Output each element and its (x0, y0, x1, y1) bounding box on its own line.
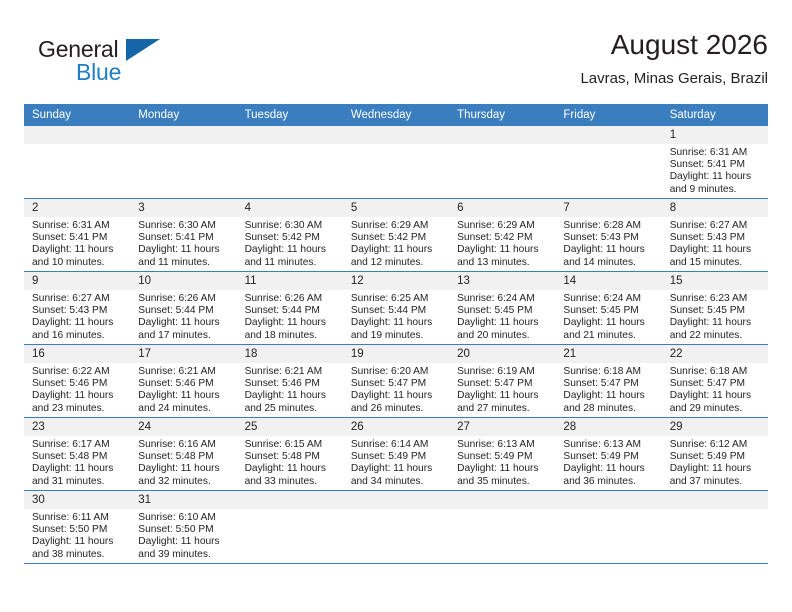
sunrise-text: Sunrise: 6:15 AM (245, 439, 337, 451)
day-number[interactable]: 19 (343, 345, 449, 363)
sunrise-text: Sunrise: 6:30 AM (245, 220, 337, 232)
calendar-cell-empty (449, 491, 555, 564)
daylight-text-line2: and 19 minutes. (351, 330, 443, 342)
daylight-text-line1: Daylight: 11 hours (563, 244, 655, 256)
sunrise-text: Sunrise: 6:19 AM (457, 366, 549, 378)
daylight-text-line1: Daylight: 11 hours (563, 317, 655, 329)
calendar-cell-inner (130, 126, 236, 198)
calendar-cell-inner: 7Sunrise: 6:28 AMSunset: 5:43 PMDaylight… (555, 199, 661, 271)
daylight-text-line1: Daylight: 11 hours (670, 171, 762, 183)
day-number[interactable]: 2 (24, 199, 130, 217)
calendar-week-row: 23Sunrise: 6:17 AMSunset: 5:48 PMDayligh… (24, 418, 768, 491)
sunset-text: Sunset: 5:47 PM (670, 378, 762, 390)
daylight-text-line2: and 28 minutes. (563, 403, 655, 415)
calendar-cell-inner (662, 491, 768, 563)
logo-triangle-icon (126, 39, 160, 61)
day-details: Sunrise: 6:20 AMSunset: 5:47 PMDaylight:… (343, 363, 449, 415)
daylight-text-line1: Daylight: 11 hours (245, 317, 337, 329)
daylight-text-line1: Daylight: 11 hours (457, 463, 549, 475)
daylight-text-line1: Daylight: 11 hours (457, 317, 549, 329)
sunrise-text: Sunrise: 6:26 AM (245, 293, 337, 305)
sunrise-text: Sunrise: 6:21 AM (138, 366, 230, 378)
daylight-text-line1: Daylight: 11 hours (351, 463, 443, 475)
daylight-text-line2: and 33 minutes. (245, 476, 337, 488)
calendar-cell-day: 14Sunrise: 6:24 AMSunset: 5:45 PMDayligh… (555, 272, 661, 345)
calendar-week-row: 2Sunrise: 6:31 AMSunset: 5:41 PMDaylight… (24, 199, 768, 272)
sunset-text: Sunset: 5:41 PM (138, 232, 230, 244)
daylight-text-line1: Daylight: 11 hours (245, 244, 337, 256)
daylight-text-line2: and 29 minutes. (670, 403, 762, 415)
daylight-text-line1: Daylight: 11 hours (670, 244, 762, 256)
weekday-header-monday: Monday (130, 104, 236, 126)
calendar-week-row: 9Sunrise: 6:27 AMSunset: 5:43 PMDaylight… (24, 272, 768, 345)
daylight-text-line2: and 39 minutes. (138, 549, 230, 561)
calendar-cell-day: 25Sunrise: 6:15 AMSunset: 5:48 PMDayligh… (237, 418, 343, 491)
daylight-text-line1: Daylight: 11 hours (670, 463, 762, 475)
sunset-text: Sunset: 5:48 PM (138, 451, 230, 463)
day-details: Sunrise: 6:24 AMSunset: 5:45 PMDaylight:… (449, 290, 555, 342)
calendar-cell-inner: 12Sunrise: 6:25 AMSunset: 5:44 PMDayligh… (343, 272, 449, 344)
calendar-cell-empty (343, 491, 449, 564)
calendar-week-row: 16Sunrise: 6:22 AMSunset: 5:46 PMDayligh… (24, 345, 768, 418)
weekday-header-sunday: Sunday (24, 104, 130, 126)
sunset-text: Sunset: 5:49 PM (457, 451, 549, 463)
calendar-bottom-rule (24, 563, 768, 564)
sunset-text: Sunset: 5:47 PM (457, 378, 549, 390)
daylight-text-line2: and 32 minutes. (138, 476, 230, 488)
sunrise-text: Sunrise: 6:23 AM (670, 293, 762, 305)
day-number (662, 491, 768, 509)
daylight-text-line2: and 37 minutes. (670, 476, 762, 488)
weekday-header-saturday: Saturday (662, 104, 768, 126)
calendar-cell-inner: 24Sunrise: 6:16 AMSunset: 5:48 PMDayligh… (130, 418, 236, 490)
sunrise-text: Sunrise: 6:31 AM (670, 147, 762, 159)
daylight-text-line2: and 34 minutes. (351, 476, 443, 488)
sunrise-text: Sunrise: 6:27 AM (670, 220, 762, 232)
calendar-cell-day: 24Sunrise: 6:16 AMSunset: 5:48 PMDayligh… (130, 418, 236, 491)
day-details: Sunrise: 6:27 AMSunset: 5:43 PMDaylight:… (662, 217, 768, 269)
weekday-header-row: Sunday Monday Tuesday Wednesday Thursday… (24, 104, 768, 126)
calendar-cell-inner (449, 491, 555, 563)
day-details: Sunrise: 6:28 AMSunset: 5:43 PMDaylight:… (555, 217, 661, 269)
calendar-cell-inner: 26Sunrise: 6:14 AMSunset: 5:49 PMDayligh… (343, 418, 449, 490)
title-block: August 2026 Lavras, Minas Gerais, Brazil (308, 28, 768, 90)
calendar-cell-day: 11Sunrise: 6:26 AMSunset: 5:44 PMDayligh… (237, 272, 343, 345)
calendar-cell-empty (130, 126, 236, 199)
calendar-cell-day: 2Sunrise: 6:31 AMSunset: 5:41 PMDaylight… (24, 199, 130, 272)
sunrise-text: Sunrise: 6:16 AM (138, 439, 230, 451)
day-details: Sunrise: 6:31 AMSunset: 5:41 PMDaylight:… (24, 217, 130, 269)
sunrise-text: Sunrise: 6:11 AM (32, 512, 124, 524)
calendar-cell-inner: 10Sunrise: 6:26 AMSunset: 5:44 PMDayligh… (130, 272, 236, 344)
calendar-cell-inner: 8Sunrise: 6:27 AMSunset: 5:43 PMDaylight… (662, 199, 768, 271)
calendar-cell-inner (555, 126, 661, 198)
sunset-text: Sunset: 5:43 PM (563, 232, 655, 244)
sunset-text: Sunset: 5:43 PM (670, 232, 762, 244)
calendar-cell-day: 31Sunrise: 6:10 AMSunset: 5:50 PMDayligh… (130, 491, 236, 564)
calendar-cell-empty (237, 126, 343, 199)
sunrise-text: Sunrise: 6:28 AM (563, 220, 655, 232)
day-number[interactable]: 26 (343, 418, 449, 436)
sunset-text: Sunset: 5:47 PM (563, 378, 655, 390)
day-number[interactable]: 23 (24, 418, 130, 436)
sunset-text: Sunset: 5:49 PM (670, 451, 762, 463)
calendar-cell-empty (555, 491, 661, 564)
sunrise-text: Sunrise: 6:13 AM (457, 439, 549, 451)
sunrise-text: Sunrise: 6:20 AM (351, 366, 443, 378)
daylight-text-line1: Daylight: 11 hours (670, 390, 762, 402)
sunset-text: Sunset: 5:49 PM (563, 451, 655, 463)
calendar-cell-inner: 20Sunrise: 6:19 AMSunset: 5:47 PMDayligh… (449, 345, 555, 417)
calendar-cell-inner: 21Sunrise: 6:18 AMSunset: 5:47 PMDayligh… (555, 345, 661, 417)
calendar-cell-empty (237, 491, 343, 564)
calendar-week-row: 1Sunrise: 6:31 AMSunset: 5:41 PMDaylight… (24, 126, 768, 199)
day-details: Sunrise: 6:26 AMSunset: 5:44 PMDaylight:… (130, 290, 236, 342)
day-details: Sunrise: 6:27 AMSunset: 5:43 PMDaylight:… (24, 290, 130, 342)
daylight-text-line2: and 17 minutes. (138, 330, 230, 342)
page-title: August 2026 (308, 28, 768, 62)
daylight-text-line2: and 21 minutes. (563, 330, 655, 342)
calendar-cell-inner: 11Sunrise: 6:26 AMSunset: 5:44 PMDayligh… (237, 272, 343, 344)
day-number[interactable]: 13 (449, 272, 555, 290)
calendar-cell-inner: 9Sunrise: 6:27 AMSunset: 5:43 PMDaylight… (24, 272, 130, 344)
sunset-text: Sunset: 5:46 PM (245, 378, 337, 390)
calendar-cell-day: 30Sunrise: 6:11 AMSunset: 5:50 PMDayligh… (24, 491, 130, 564)
calendar-cell-day: 1Sunrise: 6:31 AMSunset: 5:41 PMDaylight… (662, 126, 768, 199)
calendar-cell-empty (343, 126, 449, 199)
daylight-text-line1: Daylight: 11 hours (351, 244, 443, 256)
day-details: Sunrise: 6:13 AMSunset: 5:49 PMDaylight:… (449, 436, 555, 488)
calendar-cell-day: 9Sunrise: 6:27 AMSunset: 5:43 PMDaylight… (24, 272, 130, 345)
calendar-cell-inner: 1Sunrise: 6:31 AMSunset: 5:41 PMDaylight… (662, 126, 768, 198)
day-details: Sunrise: 6:14 AMSunset: 5:49 PMDaylight:… (343, 436, 449, 488)
day-number[interactable]: 20 (449, 345, 555, 363)
day-number[interactable]: 6 (449, 199, 555, 217)
calendar-cell-day: 28Sunrise: 6:13 AMSunset: 5:49 PMDayligh… (555, 418, 661, 491)
daylight-text-line2: and 11 minutes. (245, 257, 337, 269)
sunset-text: Sunset: 5:44 PM (138, 305, 230, 317)
daylight-text-line1: Daylight: 11 hours (670, 317, 762, 329)
day-number[interactable]: 21 (555, 345, 661, 363)
location-subtitle: Lavras, Minas Gerais, Brazil (308, 68, 768, 90)
day-number[interactable]: 1 (662, 126, 768, 144)
calendar-cell-day: 23Sunrise: 6:17 AMSunset: 5:48 PMDayligh… (24, 418, 130, 491)
day-details: Sunrise: 6:30 AMSunset: 5:42 PMDaylight:… (237, 217, 343, 269)
daylight-text-line2: and 14 minutes. (563, 257, 655, 269)
sunrise-text: Sunrise: 6:29 AM (457, 220, 549, 232)
calendar-cell-inner: 5Sunrise: 6:29 AMSunset: 5:42 PMDaylight… (343, 199, 449, 271)
day-details: Sunrise: 6:25 AMSunset: 5:44 PMDaylight:… (343, 290, 449, 342)
sunset-text: Sunset: 5:50 PM (138, 524, 230, 536)
calendar-cell-inner: 13Sunrise: 6:24 AMSunset: 5:45 PMDayligh… (449, 272, 555, 344)
calendar-cell-inner: 15Sunrise: 6:23 AMSunset: 5:45 PMDayligh… (662, 272, 768, 344)
daylight-text-line1: Daylight: 11 hours (32, 244, 124, 256)
calendar-cell-inner: 19Sunrise: 6:20 AMSunset: 5:47 PMDayligh… (343, 345, 449, 417)
sunset-text: Sunset: 5:45 PM (670, 305, 762, 317)
day-number[interactable]: 17 (130, 345, 236, 363)
calendar-cell-day: 17Sunrise: 6:21 AMSunset: 5:46 PMDayligh… (130, 345, 236, 418)
day-number[interactable]: 14 (555, 272, 661, 290)
calendar-cell-inner: 17Sunrise: 6:21 AMSunset: 5:46 PMDayligh… (130, 345, 236, 417)
day-details: Sunrise: 6:17 AMSunset: 5:48 PMDaylight:… (24, 436, 130, 488)
daylight-text-line1: Daylight: 11 hours (457, 390, 549, 402)
day-number[interactable]: 29 (662, 418, 768, 436)
day-number[interactable]: 4 (237, 199, 343, 217)
day-details: Sunrise: 6:19 AMSunset: 5:47 PMDaylight:… (449, 363, 555, 415)
calendar-cell-inner (343, 126, 449, 198)
sunset-text: Sunset: 5:48 PM (245, 451, 337, 463)
calendar-cell-inner: 6Sunrise: 6:29 AMSunset: 5:42 PMDaylight… (449, 199, 555, 271)
daylight-text-line2: and 18 minutes. (245, 330, 337, 342)
calendar-cell-day: 6Sunrise: 6:29 AMSunset: 5:42 PMDaylight… (449, 199, 555, 272)
calendar-cell-inner: 28Sunrise: 6:13 AMSunset: 5:49 PMDayligh… (555, 418, 661, 490)
day-number (24, 126, 130, 144)
calendar-cell-inner (343, 491, 449, 563)
sunset-text: Sunset: 5:43 PM (32, 305, 124, 317)
sunrise-text: Sunrise: 6:31 AM (32, 220, 124, 232)
day-number[interactable]: 28 (555, 418, 661, 436)
sunset-text: Sunset: 5:41 PM (32, 232, 124, 244)
daylight-text-line1: Daylight: 11 hours (138, 244, 230, 256)
calendar-cell-day: 16Sunrise: 6:22 AMSunset: 5:46 PMDayligh… (24, 345, 130, 418)
sunset-text: Sunset: 5:42 PM (457, 232, 549, 244)
daylight-text-line1: Daylight: 11 hours (138, 390, 230, 402)
day-details: Sunrise: 6:22 AMSunset: 5:46 PMDaylight:… (24, 363, 130, 415)
sunset-text: Sunset: 5:41 PM (670, 159, 762, 171)
day-details: Sunrise: 6:21 AMSunset: 5:46 PMDaylight:… (237, 363, 343, 415)
sunset-text: Sunset: 5:45 PM (563, 305, 655, 317)
daylight-text-line2: and 25 minutes. (245, 403, 337, 415)
day-details: Sunrise: 6:10 AMSunset: 5:50 PMDaylight:… (130, 509, 236, 561)
calendar-cell-inner: 29Sunrise: 6:12 AMSunset: 5:49 PMDayligh… (662, 418, 768, 490)
sunrise-text: Sunrise: 6:26 AM (138, 293, 230, 305)
sunrise-text: Sunrise: 6:17 AM (32, 439, 124, 451)
daylight-text-line1: Daylight: 11 hours (32, 536, 124, 548)
sunrise-text: Sunrise: 6:21 AM (245, 366, 337, 378)
calendar-cell-inner: 3Sunrise: 6:30 AMSunset: 5:41 PMDaylight… (130, 199, 236, 271)
calendar-cell-inner: 4Sunrise: 6:30 AMSunset: 5:42 PMDaylight… (237, 199, 343, 271)
sunrise-text: Sunrise: 6:18 AM (563, 366, 655, 378)
calendar-cell-empty (449, 126, 555, 199)
weekday-header-thursday: Thursday (449, 104, 555, 126)
weekday-header-tuesday: Tuesday (237, 104, 343, 126)
sunrise-sunset-calendar: Sunday Monday Tuesday Wednesday Thursday… (24, 104, 768, 563)
sunrise-text: Sunrise: 6:24 AM (457, 293, 549, 305)
calendar-cell-day: 18Sunrise: 6:21 AMSunset: 5:46 PMDayligh… (237, 345, 343, 418)
day-details: Sunrise: 6:11 AMSunset: 5:50 PMDaylight:… (24, 509, 130, 561)
calendar-cell-day: 19Sunrise: 6:20 AMSunset: 5:47 PMDayligh… (343, 345, 449, 418)
daylight-text-line2: and 20 minutes. (457, 330, 549, 342)
day-number (449, 491, 555, 509)
daylight-text-line1: Daylight: 11 hours (351, 317, 443, 329)
day-number[interactable]: 5 (343, 199, 449, 217)
calendar-cell-day: 26Sunrise: 6:14 AMSunset: 5:49 PMDayligh… (343, 418, 449, 491)
calendar-week-row: 30Sunrise: 6:11 AMSunset: 5:50 PMDayligh… (24, 491, 768, 564)
calendar-cell-inner (449, 126, 555, 198)
calendar-cell-day: 21Sunrise: 6:18 AMSunset: 5:47 PMDayligh… (555, 345, 661, 418)
sunrise-text: Sunrise: 6:27 AM (32, 293, 124, 305)
sunrise-text: Sunrise: 6:22 AM (32, 366, 124, 378)
day-details: Sunrise: 6:18 AMSunset: 5:47 PMDaylight:… (555, 363, 661, 415)
daylight-text-line2: and 27 minutes. (457, 403, 549, 415)
calendar-cell-inner: 18Sunrise: 6:21 AMSunset: 5:46 PMDayligh… (237, 345, 343, 417)
daylight-text-line2: and 16 minutes. (32, 330, 124, 342)
daylight-text-line1: Daylight: 11 hours (138, 463, 230, 475)
calendar-cell-inner: 31Sunrise: 6:10 AMSunset: 5:50 PMDayligh… (130, 491, 236, 563)
daylight-text-line2: and 26 minutes. (351, 403, 443, 415)
daylight-text-line1: Daylight: 11 hours (351, 390, 443, 402)
day-details: Sunrise: 6:12 AMSunset: 5:49 PMDaylight:… (662, 436, 768, 488)
calendar-cell-inner: 22Sunrise: 6:18 AMSunset: 5:47 PMDayligh… (662, 345, 768, 417)
day-number[interactable]: 27 (449, 418, 555, 436)
day-number[interactable]: 12 (343, 272, 449, 290)
calendar-body: 1Sunrise: 6:31 AMSunset: 5:41 PMDaylight… (24, 126, 768, 563)
day-number (130, 126, 236, 144)
calendar-cell-empty (24, 126, 130, 199)
day-number[interactable]: 15 (662, 272, 768, 290)
day-details: Sunrise: 6:29 AMSunset: 5:42 PMDaylight:… (343, 217, 449, 269)
calendar-cell-day: 15Sunrise: 6:23 AMSunset: 5:45 PMDayligh… (662, 272, 768, 345)
day-details: Sunrise: 6:23 AMSunset: 5:45 PMDaylight:… (662, 290, 768, 342)
weekday-header-friday: Friday (555, 104, 661, 126)
day-number (343, 491, 449, 509)
day-details: Sunrise: 6:16 AMSunset: 5:48 PMDaylight:… (130, 436, 236, 488)
day-details: Sunrise: 6:30 AMSunset: 5:41 PMDaylight:… (130, 217, 236, 269)
sunset-text: Sunset: 5:45 PM (457, 305, 549, 317)
calendar-cell-inner: 14Sunrise: 6:24 AMSunset: 5:45 PMDayligh… (555, 272, 661, 344)
calendar-cell-day: 7Sunrise: 6:28 AMSunset: 5:43 PMDaylight… (555, 199, 661, 272)
day-details: Sunrise: 6:29 AMSunset: 5:42 PMDaylight:… (449, 217, 555, 269)
day-number[interactable]: 8 (662, 199, 768, 217)
day-details: Sunrise: 6:13 AMSunset: 5:49 PMDaylight:… (555, 436, 661, 488)
daylight-text-line1: Daylight: 11 hours (563, 463, 655, 475)
daylight-text-line2: and 12 minutes. (351, 257, 443, 269)
daylight-text-line2: and 11 minutes. (138, 257, 230, 269)
day-number (555, 126, 661, 144)
sunrise-text: Sunrise: 6:18 AM (670, 366, 762, 378)
calendar-cell-inner (237, 126, 343, 198)
calendar-cell-inner: 2Sunrise: 6:31 AMSunset: 5:41 PMDaylight… (24, 199, 130, 271)
daylight-text-line1: Daylight: 11 hours (138, 317, 230, 329)
day-number[interactable]: 9 (24, 272, 130, 290)
daylight-text-line2: and 15 minutes. (670, 257, 762, 269)
day-details: Sunrise: 6:26 AMSunset: 5:44 PMDaylight:… (237, 290, 343, 342)
calendar-cell-day: 22Sunrise: 6:18 AMSunset: 5:47 PMDayligh… (662, 345, 768, 418)
sunrise-text: Sunrise: 6:10 AM (138, 512, 230, 524)
calendar-cell-inner: 30Sunrise: 6:11 AMSunset: 5:50 PMDayligh… (24, 491, 130, 563)
sunset-text: Sunset: 5:49 PM (351, 451, 443, 463)
day-number (237, 126, 343, 144)
calendar-cell-empty (555, 126, 661, 199)
sunset-text: Sunset: 5:50 PM (32, 524, 124, 536)
daylight-text-line1: Daylight: 11 hours (563, 390, 655, 402)
calendar-cell-inner: 16Sunrise: 6:22 AMSunset: 5:46 PMDayligh… (24, 345, 130, 417)
day-details: Sunrise: 6:31 AMSunset: 5:41 PMDaylight:… (662, 144, 768, 196)
calendar-cell-day: 8Sunrise: 6:27 AMSunset: 5:43 PMDaylight… (662, 199, 768, 272)
calendar-cell-inner: 25Sunrise: 6:15 AMSunset: 5:48 PMDayligh… (237, 418, 343, 490)
sunset-text: Sunset: 5:46 PM (32, 378, 124, 390)
day-details: Sunrise: 6:24 AMSunset: 5:45 PMDaylight:… (555, 290, 661, 342)
day-number[interactable]: 22 (662, 345, 768, 363)
daylight-text-line2: and 35 minutes. (457, 476, 549, 488)
daylight-text-line2: and 22 minutes. (670, 330, 762, 342)
daylight-text-line1: Daylight: 11 hours (457, 244, 549, 256)
day-number[interactable]: 30 (24, 491, 130, 509)
daylight-text-line1: Daylight: 11 hours (245, 463, 337, 475)
day-details: Sunrise: 6:21 AMSunset: 5:46 PMDaylight:… (130, 363, 236, 415)
calendar-cell-day: 5Sunrise: 6:29 AMSunset: 5:42 PMDaylight… (343, 199, 449, 272)
daylight-text-line1: Daylight: 11 hours (32, 390, 124, 402)
day-number[interactable]: 16 (24, 345, 130, 363)
day-number (449, 126, 555, 144)
sunset-text: Sunset: 5:47 PM (351, 378, 443, 390)
weekday-header-wednesday: Wednesday (343, 104, 449, 126)
calendar-cell-day: 29Sunrise: 6:12 AMSunset: 5:49 PMDayligh… (662, 418, 768, 491)
logo-text-blue: Blue (76, 59, 121, 86)
sunset-text: Sunset: 5:44 PM (351, 305, 443, 317)
calendar-cell-day: 13Sunrise: 6:24 AMSunset: 5:45 PMDayligh… (449, 272, 555, 345)
calendar-cell-inner: 23Sunrise: 6:17 AMSunset: 5:48 PMDayligh… (24, 418, 130, 490)
day-number (237, 491, 343, 509)
day-number[interactable]: 11 (237, 272, 343, 290)
sunrise-text: Sunrise: 6:13 AM (563, 439, 655, 451)
sunrise-text: Sunrise: 6:30 AM (138, 220, 230, 232)
sunset-text: Sunset: 5:48 PM (32, 451, 124, 463)
calendar-cell-inner (555, 491, 661, 563)
day-number (555, 491, 661, 509)
day-details: Sunrise: 6:18 AMSunset: 5:47 PMDaylight:… (662, 363, 768, 415)
sunset-text: Sunset: 5:46 PM (138, 378, 230, 390)
calendar-cell-day: 20Sunrise: 6:19 AMSunset: 5:47 PMDayligh… (449, 345, 555, 418)
day-number[interactable]: 10 (130, 272, 236, 290)
sunrise-text: Sunrise: 6:12 AM (670, 439, 762, 451)
day-number[interactable]: 3 (130, 199, 236, 217)
calendar-cell-day: 12Sunrise: 6:25 AMSunset: 5:44 PMDayligh… (343, 272, 449, 345)
day-number (343, 126, 449, 144)
calendar-cell-empty (662, 491, 768, 564)
day-number[interactable]: 25 (237, 418, 343, 436)
calendar-cell-day: 3Sunrise: 6:30 AMSunset: 5:41 PMDaylight… (130, 199, 236, 272)
general-blue-logo: General Blue (38, 36, 218, 92)
daylight-text-line2: and 24 minutes. (138, 403, 230, 415)
page-header: General Blue August 2026 Lavras, Minas G… (24, 28, 768, 100)
daylight-text-line1: Daylight: 11 hours (245, 390, 337, 402)
calendar-cell-inner (24, 126, 130, 198)
daylight-text-line2: and 38 minutes. (32, 549, 124, 561)
daylight-text-line2: and 23 minutes. (32, 403, 124, 415)
daylight-text-line2: and 31 minutes. (32, 476, 124, 488)
day-number[interactable]: 24 (130, 418, 236, 436)
daylight-text-line1: Daylight: 11 hours (32, 463, 124, 475)
calendar-page: General Blue August 2026 Lavras, Minas G… (0, 0, 792, 612)
calendar-cell-day: 10Sunrise: 6:26 AMSunset: 5:44 PMDayligh… (130, 272, 236, 345)
daylight-text-line2: and 13 minutes. (457, 257, 549, 269)
sunrise-text: Sunrise: 6:24 AM (563, 293, 655, 305)
sunrise-text: Sunrise: 6:29 AM (351, 220, 443, 232)
daylight-text-line2: and 9 minutes. (670, 184, 762, 196)
daylight-text-line1: Daylight: 11 hours (32, 317, 124, 329)
daylight-text-line2: and 10 minutes. (32, 257, 124, 269)
day-number[interactable]: 7 (555, 199, 661, 217)
calendar-cell-inner: 27Sunrise: 6:13 AMSunset: 5:49 PMDayligh… (449, 418, 555, 490)
sunset-text: Sunset: 5:42 PM (351, 232, 443, 244)
day-number[interactable]: 31 (130, 491, 236, 509)
sunset-text: Sunset: 5:44 PM (245, 305, 337, 317)
sunrise-text: Sunrise: 6:14 AM (351, 439, 443, 451)
calendar-cell-day: 4Sunrise: 6:30 AMSunset: 5:42 PMDaylight… (237, 199, 343, 272)
day-number[interactable]: 18 (237, 345, 343, 363)
calendar-cell-day: 27Sunrise: 6:13 AMSunset: 5:49 PMDayligh… (449, 418, 555, 491)
